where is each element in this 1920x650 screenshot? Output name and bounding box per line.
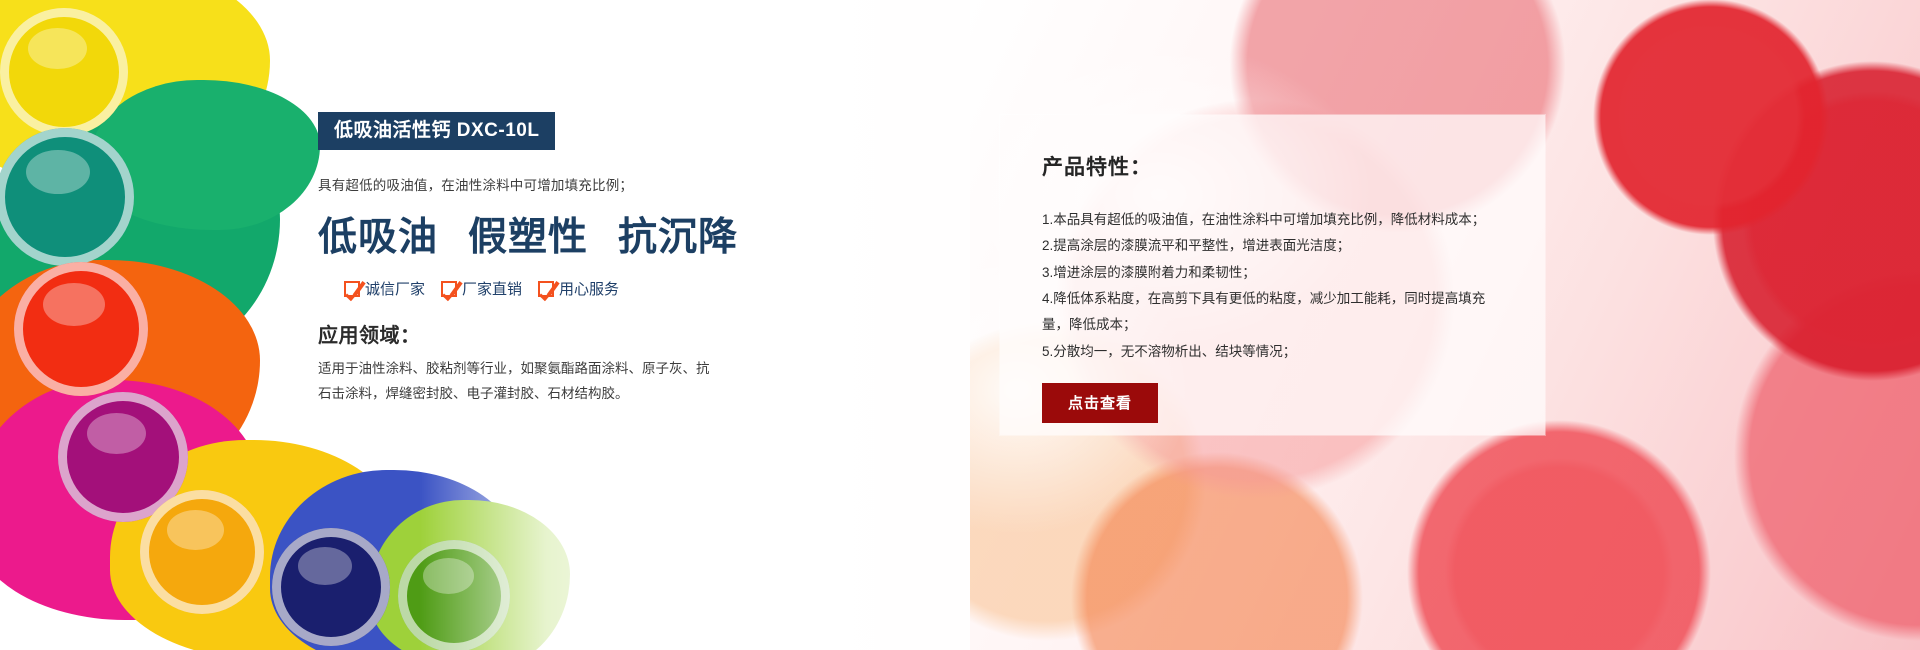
product-banner: 低吸油活性钙 DXC-10L 具有超低的吸油值，在油性涂料中可增加填充比例； 低… <box>0 0 1920 650</box>
trust-badge-3: 用心服务 <box>538 278 619 299</box>
product-subtitle: 具有超低的吸油值，在油性涂料中可增加填充比例； <box>318 174 748 194</box>
trust-badge-1: 诚信厂家 <box>344 278 425 299</box>
trust-badge-label: 用心服务 <box>559 278 619 299</box>
headline-keyword-1: 低吸油 <box>318 206 438 262</box>
feature-item: 1.本品具有超低的吸油值，在油性涂料中可增加填充比例，降低材料成本； <box>1042 207 1505 233</box>
background-artwork <box>0 0 1920 650</box>
paint-pot-orange <box>140 490 264 614</box>
features-panel-title: 产品特性： <box>1042 151 1505 181</box>
left-content-block: 低吸油活性钙 DXC-10L 具有超低的吸油值，在油性涂料中可增加填充比例； 低… <box>318 112 748 407</box>
paint-pot-teal <box>0 128 134 266</box>
feature-item: 3.增进涂层的漆膜附着力和柔韧性； <box>1042 260 1505 286</box>
feature-item: 5.分散均一，无不溶物析出、结块等情况； <box>1042 339 1505 365</box>
headline-keyword-2: 假塑性 <box>468 206 588 262</box>
trust-badge-2: 厂家直销 <box>441 278 522 299</box>
trust-badge-label: 诚信厂家 <box>365 278 425 299</box>
trust-badge-label: 厂家直销 <box>462 278 522 299</box>
check-box-icon <box>441 281 457 297</box>
paint-pot-red <box>14 262 148 396</box>
product-features-panel: 产品特性： 1.本品具有超低的吸油值，在油性涂料中可增加填充比例，降低材料成本；… <box>1000 115 1545 435</box>
feature-list: 1.本品具有超低的吸油值，在油性涂料中可增加填充比例，降低材料成本； 2.提高涂… <box>1042 207 1505 365</box>
right-background-fade <box>710 0 970 650</box>
paint-pot-yellow <box>0 8 128 136</box>
application-section-title: 应用领域： <box>318 319 748 348</box>
check-box-icon <box>344 281 360 297</box>
feature-item: 4.降低体系粘度，在高剪下具有更低的粘度，减少加工能耗，同时提高填充量，降低成本… <box>1042 286 1505 339</box>
product-title-badge: 低吸油活性钙 DXC-10L <box>318 112 555 150</box>
headline-keywords: 低吸油 假塑性 抗沉降 <box>318 206 748 262</box>
paint-pot-navy <box>272 528 390 646</box>
feature-item: 2.提高涂层的漆膜流平和平整性，增进表面光洁度； <box>1042 233 1505 259</box>
application-section-body: 适用于油性涂料、胶粘剂等行业，如聚氨酯路面涂料、原子灰、抗石击涂料，焊缝密封胶、… <box>318 357 718 407</box>
check-box-icon <box>538 281 554 297</box>
headline-keyword-3: 抗沉降 <box>618 206 738 262</box>
trust-badge-row: 诚信厂家 厂家直销 用心服务 <box>344 278 748 299</box>
view-details-button[interactable]: 点击查看 <box>1042 383 1158 423</box>
